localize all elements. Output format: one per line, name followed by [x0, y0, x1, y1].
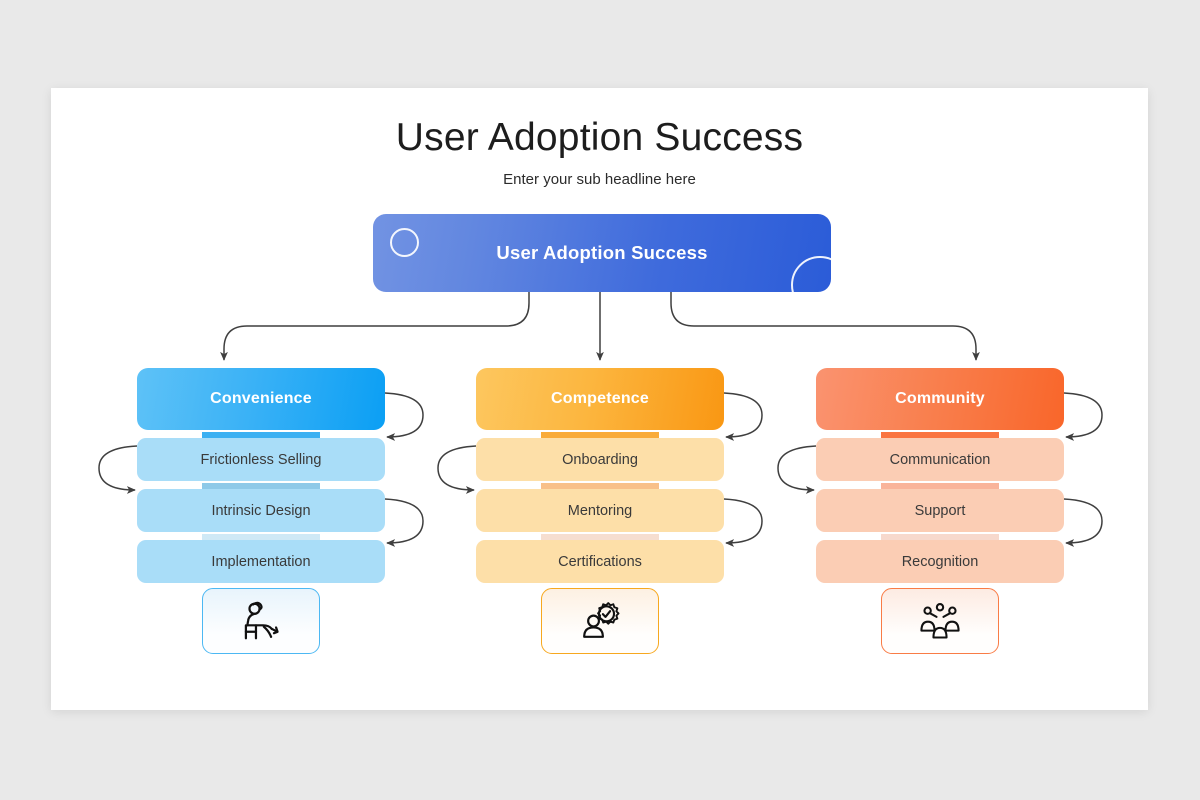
page-title: User Adoption Success [51, 116, 1148, 160]
column-header-competence[interactable]: Competence [476, 368, 724, 430]
group-of-people-icon [918, 599, 962, 643]
list-item-label: Onboarding [562, 452, 638, 468]
list-item-label: Mentoring [568, 503, 632, 519]
list-item[interactable]: Certifications [476, 540, 724, 583]
list-item-label: Certifications [558, 554, 642, 570]
list-item-label: Communication [890, 452, 991, 468]
column-community: Community Communication Support Recognit… [816, 368, 1064, 654]
circle-outline-large-icon [791, 256, 831, 292]
infographic-stage: User Adoption Success Enter your sub hea… [51, 88, 1148, 710]
list-item[interactable]: Frictionless Selling [137, 438, 385, 481]
list-item[interactable]: Mentoring [476, 489, 724, 532]
circle-outline-small-icon [390, 228, 419, 257]
list-item[interactable]: Recognition [816, 540, 1064, 583]
list-item-label: Support [915, 503, 966, 519]
page-subtitle: Enter your sub headline here [51, 171, 1148, 188]
slide-canvas: User Adoption Success Enter your sub hea… [51, 88, 1148, 710]
column-header-label: Community [895, 390, 985, 408]
list-item-label: Recognition [902, 554, 979, 570]
list-item[interactable]: Onboarding [476, 438, 724, 481]
list-item[interactable]: Support [816, 489, 1064, 532]
list-item[interactable]: Intrinsic Design [137, 489, 385, 532]
column-header-community[interactable]: Community [816, 368, 1064, 430]
column-icon-box-community [881, 588, 999, 654]
list-item-label: Implementation [211, 554, 310, 570]
master-node[interactable]: User Adoption Success [373, 214, 831, 292]
column-header-convenience[interactable]: Convenience [137, 368, 385, 430]
certified-person-badge-icon [577, 598, 623, 644]
person-relaxing-in-chair-icon [238, 598, 284, 644]
column-header-label: Convenience [210, 390, 312, 408]
column-competence: Competence Onboarding Mentoring Certific… [476, 368, 724, 654]
master-node-label: User Adoption Success [496, 242, 707, 264]
column-icon-box-competence [541, 588, 659, 654]
column-icon-box-convenience [202, 588, 320, 654]
list-item[interactable]: Implementation [137, 540, 385, 583]
list-item[interactable]: Communication [816, 438, 1064, 481]
column-convenience: Convenience Frictionless Selling Intrins… [137, 368, 385, 654]
list-item-label: Intrinsic Design [211, 503, 310, 519]
column-header-label: Competence [551, 390, 649, 408]
list-item-label: Frictionless Selling [201, 452, 322, 468]
